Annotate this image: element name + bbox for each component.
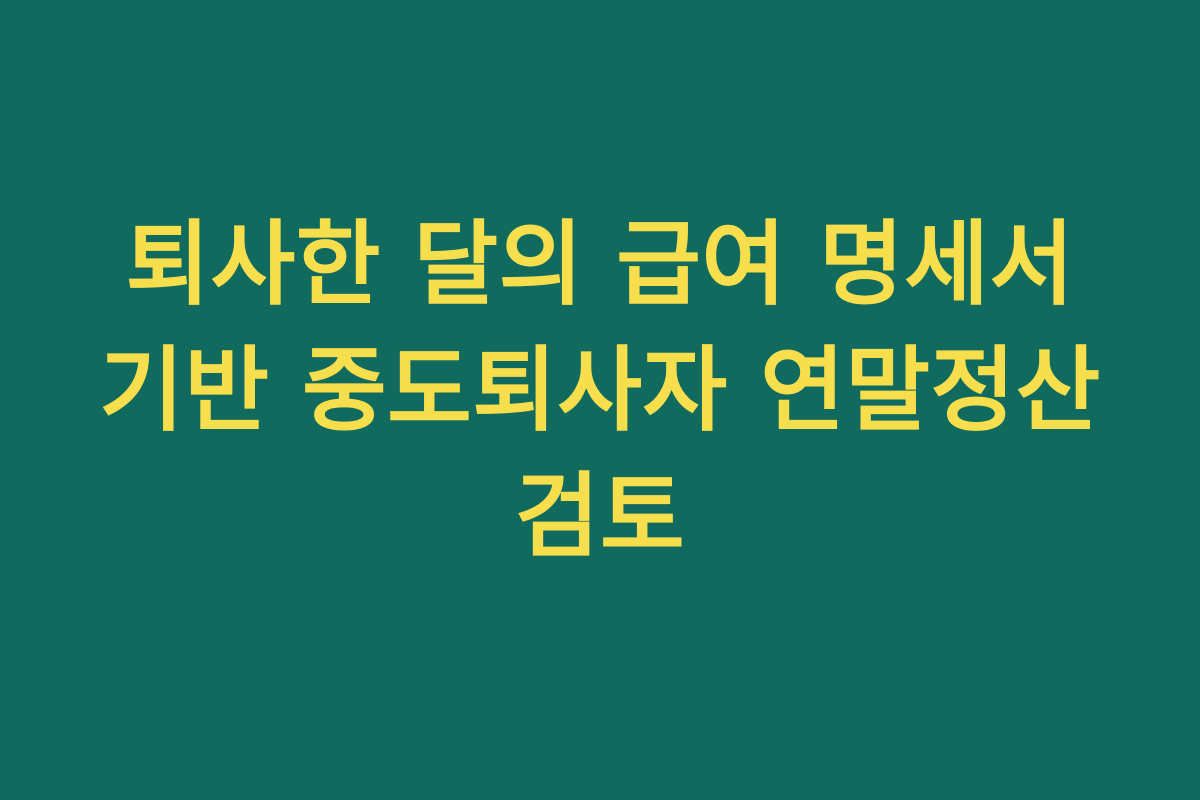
title-card-banner: 퇴사한 달의 급여 명세서 기반 중도퇴사자 연말정산 검토 xyxy=(0,0,1200,800)
page-title: 퇴사한 달의 급여 명세서 기반 중도퇴사자 연말정산 검토 xyxy=(70,202,1130,598)
